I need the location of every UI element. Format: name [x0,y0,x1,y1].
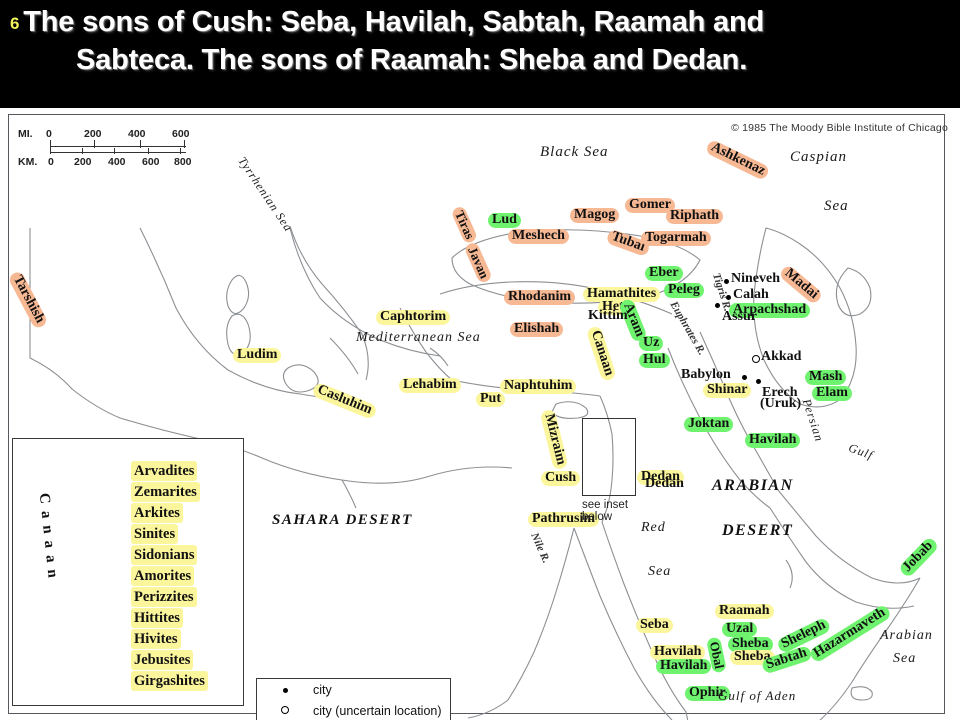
map-label-ludim[interactable]: Ludim [233,348,281,363]
legend-city-uncertain-icon [257,703,313,718]
scale-km-tick-200: 200 [74,156,92,168]
map-label-uzal[interactable]: Uzal [722,622,757,637]
legend-text-1: city (uncertain location) [313,704,442,718]
map-label-havilah[interactable]: Havilah [656,659,711,674]
city-label-nineveh[interactable]: Nineveh [731,272,780,287]
canaan-tribe-list: ArvaditesZemaritesArkitesSinitesSidonian… [131,461,208,692]
map-label-put[interactable]: Put [476,392,505,407]
map-label-elam[interactable]: Elam [812,386,852,401]
sea-label-black-sea: Black Sea [540,145,609,161]
city-label-dedan[interactable]: Dedan [645,477,684,492]
scale-km-tick-0: 0 [48,156,54,168]
map-label-cush[interactable]: Cush [541,471,580,486]
map-label-joktan[interactable]: Joktan [684,417,733,432]
canaan-tribe-sidonians: Sidonians [131,545,197,565]
city-label-(uruk)[interactable]: (Uruk) [760,397,801,412]
city-marker-assur [715,303,720,308]
map-label-peleg[interactable]: Peleg [664,283,704,298]
city-label-babylon[interactable]: Babylon [681,368,731,383]
map-label-shinar[interactable]: Shinar [703,383,751,398]
scale-km-tick-800: 800 [174,156,192,168]
verse-line-1: The sons of Cush: Seba, Havilah, Sabtah,… [23,6,764,38]
see-inset-caption: see inset below [582,499,628,523]
map-label-eber[interactable]: Eber [645,266,683,281]
map-label-raamah[interactable]: Raamah [715,604,774,619]
sea-label-mediterranean-sea: Mediterranean Sea [356,331,481,346]
sea-label-red: Red [641,521,666,536]
city-uncertain-marker-akkad [752,355,760,363]
desert-label-sahara-desert: SAHARA DESERT [272,513,413,529]
sea-label-arabian: Arabian [880,629,933,644]
scale-km-label: KM. [18,156,37,168]
map-label-seba[interactable]: Seba [636,618,673,633]
sea-label-sea: Sea [824,199,849,215]
canaan-tribe-sinites: Sinites [131,524,178,544]
desert-label-arabian: ARABIAN [712,478,794,495]
sea-label-caspian: Caspian [790,150,847,166]
scale-mi-label: MI. [18,128,33,140]
sea-label-gulf-of-aden: Gulf of Aden [718,689,796,703]
city-marker-nineveh [724,279,729,284]
legend-row-0: city [257,679,450,700]
canaan-tribe-zemarites: Zemarites [131,482,200,502]
map-panel[interactable]: MI. 0 200 400 600 KM. 0 200 400 600 800 … [0,108,960,720]
verse-text: 6The sons of Cush: Seba, Havilah, Sabtah… [10,4,950,79]
map-label-uz[interactable]: Uz [639,336,663,351]
verse-line-2: Sabteca. The sons of Raamah: Sheba and D… [76,42,950,79]
map-legend[interactable]: citycity (uncertain location)GomerDescen… [256,678,451,720]
canaan-tribe-amorites: Amorites [131,566,194,586]
legend-row-1: city (uncertain location) [257,700,450,720]
scale-mi-tick-200: 200 [84,128,102,140]
city-label-kittim[interactable]: Kittim [588,309,628,324]
slide-root: 6The sons of Cush: Seba, Havilah, Sabtah… [0,0,960,720]
verse-banner: 6The sons of Cush: Seba, Havilah, Sabtah… [0,0,960,108]
city-label-assur[interactable]: Assur [722,310,757,325]
map-label-riphath[interactable]: Riphath [666,209,723,224]
map-label-meshech[interactable]: Meshech [508,229,569,244]
map-label-lehabim[interactable]: Lehabim [399,378,461,393]
map-label-havilah[interactable]: Havilah [745,433,800,448]
city-marker-erech [756,379,761,384]
canaan-tribe-girgashites: Girgashites [131,671,208,691]
inset-reference-box [582,418,636,496]
legend-city-dot-icon [257,682,313,697]
map-label-magog[interactable]: Magog [570,208,619,223]
map-label-caphtorim[interactable]: Caphtorim [376,310,450,325]
canaan-tribe-hivites: Hivites [131,629,181,649]
map-label-elishah[interactable]: Elishah [510,322,563,337]
canaan-tribe-hittites: Hittites [131,608,183,628]
copyright-notice: © 1985 The Moody Bible Institute of Chic… [731,122,948,134]
scale-mi-tick-400: 400 [128,128,146,140]
canaan-tribe-perizzites: Perizzites [131,587,197,607]
sea-label-sea: Sea [893,652,916,667]
scale-mi-tick-600: 600 [172,128,190,140]
canaan-inset-region-label: Canaan [34,492,56,518]
map-label-mash[interactable]: Mash [805,370,846,385]
scale-mi-tick-0: 0 [46,128,52,140]
sea-label-sea: Sea [648,565,671,580]
scale-bar: MI. 0 200 400 600 KM. 0 200 400 600 800 [18,124,268,172]
scale-km-tick-600: 600 [142,156,160,168]
city-marker-babylon [742,375,747,380]
map-label-rhodanim[interactable]: Rhodanim [504,290,575,305]
city-label-calah[interactable]: Calah [733,288,769,303]
map-label-hul[interactable]: Hul [639,353,670,368]
map-label-naphtuhim[interactable]: Naphtuhim [500,379,576,394]
scale-km-tick-400: 400 [108,156,126,168]
canaan-inset-box[interactable]: Canaan ArvaditesZemaritesArkitesSinitesS… [12,438,244,706]
canaan-tribe-arkites: Arkites [131,503,183,523]
map-label-togarmah[interactable]: Togarmah [641,231,711,246]
see-inset-line2: below [582,511,628,523]
city-marker-calah [726,295,731,300]
map-label-lud[interactable]: Lud [488,213,521,228]
verse-number: 6 [10,14,19,33]
legend-text-0: city [313,683,332,697]
canaan-tribe-arvadites: Arvadites [131,461,197,481]
city-label-akkad[interactable]: Akkad [761,350,801,365]
desert-label-desert: DESERT [722,523,793,540]
canaan-tribe-jebusites: Jebusites [131,650,193,670]
see-inset-line1: see inset [582,499,628,511]
